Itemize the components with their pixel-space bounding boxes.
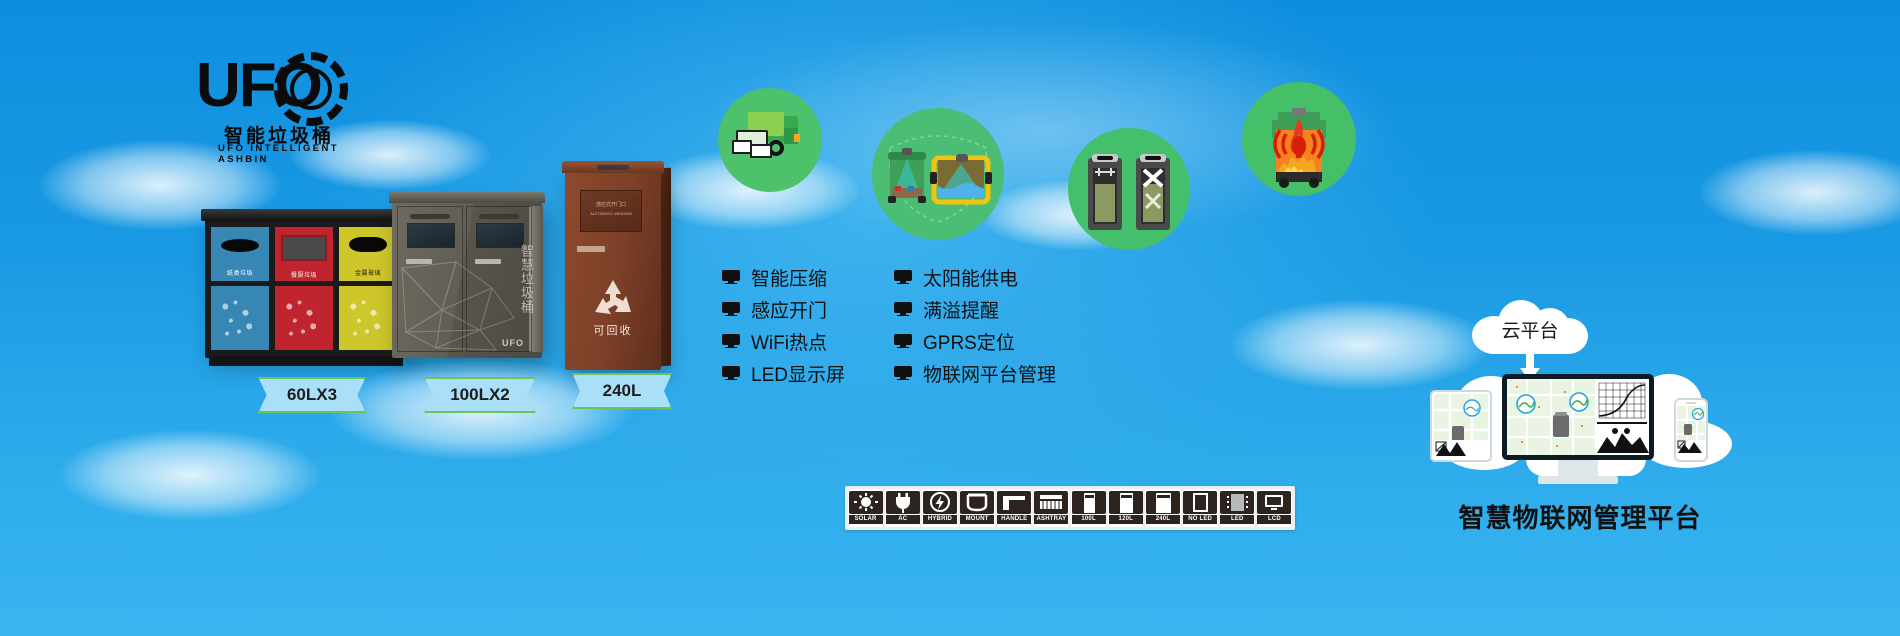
fleet-dispatch-icon	[718, 88, 822, 192]
badge-lcd[interactable]: LCD	[1257, 489, 1292, 527]
bin-100l-icon	[1072, 491, 1106, 514]
feature-label: 满溢提醒	[923, 296, 999, 323]
bottle-slot-icon	[349, 237, 387, 252]
iot-platform-illustration	[1430, 360, 1730, 500]
desktop-monitor[interactable]	[1502, 374, 1654, 460]
banner-stage: UFO 智能垃圾桶 UFO INTELLIGENT ASHBIN 纸类垃圾 餐厨…	[0, 0, 1900, 636]
wall-mount-icon	[960, 491, 994, 514]
sensor-strip-icon	[597, 165, 629, 170]
feature-column-right: 太阳能供电 满溢提醒 GPRS定位 物联网平台管理	[894, 262, 1056, 390]
compartment-lower-paper	[211, 286, 269, 350]
capacity-banner-100lx2: 100LX2	[424, 377, 536, 413]
sensor-strip-icon	[410, 214, 450, 219]
background-cloud	[60, 430, 320, 520]
feature-label: 物联网平台管理	[923, 360, 1056, 387]
fire-alarm-icon	[1242, 82, 1356, 196]
monitor-icon	[894, 270, 912, 284]
logo-english-name: UFO INTELLIGENT ASHBIN	[218, 143, 386, 165]
bin-brand-mark: UFO	[502, 338, 524, 348]
feature-circle-fleet-dispatch	[718, 88, 822, 192]
display-screen	[476, 223, 524, 248]
feature-item: WiFi热点	[722, 326, 845, 356]
feature-item: 物联网平台管理	[894, 358, 1056, 388]
display-screen: 感应式开门口 AUTOMATIC WINDOW	[580, 190, 642, 232]
compartment-upper-kitchen: 餐厨垃圾	[275, 227, 333, 281]
monitor-icon	[722, 270, 740, 284]
feature-item: LED显示屏	[722, 358, 845, 388]
badge-no-led[interactable]: NO LED	[1183, 489, 1218, 527]
monitor-dashboard-screen	[1507, 379, 1649, 455]
tablet-device[interactable]	[1430, 390, 1492, 462]
badge-label: ASHTRAY	[1034, 515, 1068, 524]
bin-120l-icon	[1109, 491, 1143, 514]
led-panel-icon	[1220, 491, 1254, 514]
waste-pictogram-icon	[217, 292, 263, 344]
compartment-upper-metalglass: 金属玻璃	[339, 227, 397, 281]
monitor-icon	[722, 334, 740, 348]
badge-label: 100L	[1072, 515, 1106, 524]
product-bin-240l[interactable]: 感应式开门口 AUTOMATIC WINDOW 可回收	[565, 170, 661, 370]
feature-circle-compaction	[1068, 128, 1190, 250]
feature-circle-fill-level	[872, 108, 1004, 240]
feature-label: GPRS定位	[923, 328, 1015, 355]
display-screen	[407, 223, 455, 248]
badge-led[interactable]: LED	[1220, 489, 1255, 527]
badge-label: AC	[886, 515, 920, 524]
compartment-label: 餐厨垃圾	[275, 270, 333, 279]
handle-icon	[997, 491, 1031, 514]
monitor-base	[1538, 476, 1618, 484]
badge-mount[interactable]: MOUNT	[960, 489, 995, 527]
capacity-banner-240l: 240L	[572, 373, 672, 409]
tablet-dashboard-screen	[1432, 392, 1490, 460]
feature-circle-fire-alarm	[1242, 82, 1356, 196]
badge-label: HYBRID	[923, 515, 957, 524]
feature-label: WiFi热点	[751, 328, 827, 355]
feature-item: GPRS定位	[894, 326, 1056, 356]
waste-pictogram-icon	[281, 292, 327, 344]
compartment-upper-paper: 纸类垃圾	[211, 227, 269, 281]
monitor-icon	[722, 302, 740, 316]
badge-ac[interactable]: AC	[885, 489, 920, 527]
badge-solar[interactable]: SOLAR	[848, 489, 883, 527]
compartment-label: 金属玻璃	[339, 268, 397, 277]
bin-side-text: 智慧垃圾桶	[520, 244, 534, 314]
monitor-icon	[894, 302, 912, 316]
sensor-strip-icon	[479, 214, 519, 219]
platform-title: 智慧物联网管理平台	[1425, 498, 1735, 535]
solar-sun-icon	[849, 491, 883, 514]
badge-100l[interactable]: 100L	[1071, 489, 1106, 527]
lcd-screen-icon	[1257, 491, 1291, 514]
background-cloud	[1700, 150, 1900, 235]
badge-label: HANDLE	[997, 515, 1031, 524]
recycle-label: 可回收	[565, 322, 661, 338]
cloud-platform-badge: 云平台	[1472, 300, 1588, 354]
badge-handle[interactable]: HANDLE	[997, 489, 1032, 527]
capacity-banner-60lx3: 60LX3	[258, 377, 366, 413]
hybrid-bolt-icon	[923, 491, 957, 514]
feature-item: 智能压缩	[722, 262, 845, 292]
product-bin-60lx3[interactable]: 纸类垃圾 餐厨垃圾 金属玻璃	[205, 218, 405, 358]
kitchen-slot-icon	[281, 235, 327, 261]
feature-item: 感应开门	[722, 294, 845, 324]
badge-ashtray[interactable]: ASHTRAY	[1034, 489, 1069, 527]
badge-label: 240L	[1146, 515, 1180, 524]
door-handle-icon	[577, 246, 605, 252]
compartment-lower-kitchen	[275, 286, 333, 350]
feature-item: 太阳能供电	[894, 262, 1056, 292]
badge-240l[interactable]: 240L	[1145, 489, 1180, 527]
fill-level-sensor-icon	[872, 108, 1004, 240]
ac-plug-icon	[886, 491, 920, 514]
feature-label: 感应开门	[751, 296, 827, 323]
phone-dashboard-screen	[1676, 400, 1706, 460]
waste-pictogram-icon	[345, 292, 391, 344]
feature-column-left: 智能压缩 感应开门 WiFi热点 LED显示屏	[722, 262, 845, 390]
badge-label: LCD	[1257, 515, 1291, 524]
monitor-icon	[894, 334, 912, 348]
smartphone-device[interactable]	[1674, 398, 1708, 462]
feature-label: 智能压缩	[751, 264, 827, 291]
product-bin-100lx2[interactable]: 智慧垃圾桶 UFO	[392, 200, 542, 358]
no-led-icon	[1183, 491, 1217, 514]
compaction-bins-icon	[1068, 128, 1190, 250]
recycle-icon	[591, 278, 635, 318]
bin-240l-icon	[1146, 491, 1180, 514]
screen-line-2: AUTOMATIC WINDOW	[581, 210, 641, 217]
badge-120l[interactable]: 120L	[1108, 489, 1143, 527]
badge-label: NO LED	[1183, 515, 1217, 524]
feature-label: LED显示屏	[751, 360, 845, 387]
brand-logo: UFO 智能垃圾桶 UFO INTELLIGENT ASHBIN	[196, 55, 386, 155]
bin-top-lid	[389, 192, 545, 203]
feature-label: 太阳能供电	[923, 264, 1018, 291]
badge-hybrid[interactable]: HYBRID	[922, 489, 957, 527]
bin-base	[209, 356, 403, 366]
ashtray-icon	[1034, 491, 1068, 514]
monitor-icon	[722, 366, 740, 380]
cloud-platform-label: 云平台	[1472, 316, 1588, 343]
monitor-stand	[1558, 460, 1598, 476]
paper-slot-icon	[221, 239, 259, 252]
compartment-lower-metalglass	[339, 286, 397, 350]
badge-label: LED	[1220, 515, 1254, 524]
ufo-ring-inner-icon	[290, 68, 332, 110]
compartment-label: 纸类垃圾	[211, 268, 269, 277]
feature-item: 满溢提醒	[894, 294, 1056, 324]
monitor-icon	[894, 366, 912, 380]
badge-label: SOLAR	[849, 515, 883, 524]
badge-label: MOUNT	[960, 515, 994, 524]
badge-label: 120L	[1109, 515, 1143, 524]
option-badge-strip: SOLAR AC HYBRID MOUNT HANDLE	[845, 486, 1295, 530]
bin-top-lid	[201, 209, 413, 221]
screen-line-1: 感应式开门口	[581, 202, 641, 209]
